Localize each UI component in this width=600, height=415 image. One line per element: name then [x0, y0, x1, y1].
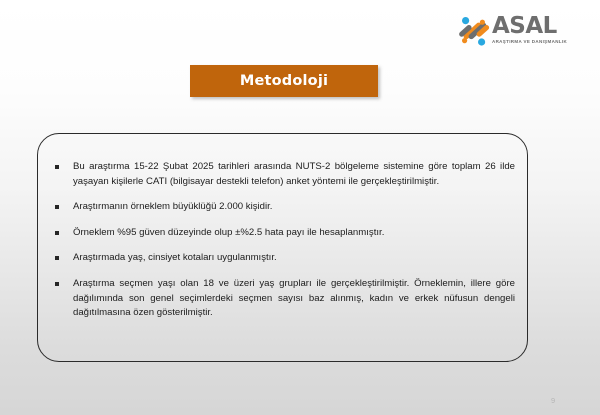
square-bullet-icon: [55, 256, 59, 260]
list-item-text: Araştırma seçmen yaşı olan 18 ve üzeri y…: [73, 277, 515, 321]
slide: ASAL ARAŞTIRMA VE DANIŞMANLIK Metodoloji…: [0, 0, 600, 415]
list-item-text: Örneklem %95 güven düzeyinde olup ±%2.5 …: [73, 226, 515, 241]
list-item: Araştırma seçmen yaşı olan 18 ve üzeri y…: [55, 277, 515, 321]
asal-diagonal-bars-icon: [457, 15, 490, 48]
square-bullet-icon: [55, 231, 59, 235]
square-bullet-icon: [55, 205, 59, 209]
list-item: Örneklem %95 güven düzeyinde olup ±%2.5 …: [55, 226, 515, 241]
square-bullet-icon: [55, 165, 59, 169]
logo-wordmark: ASAL ARAŞTIRMA VE DANIŞMANLIK: [492, 14, 566, 45]
list-item-text: Araştırmada yaş, cinsiyet kotaları uygul…: [73, 251, 515, 266]
asal-logo: ASAL ARAŞTIRMA VE DANIŞMANLIK: [457, 14, 579, 52]
logo-tagline: ARAŞTIRMA VE DANIŞMANLIK: [492, 39, 567, 45]
list-item-text: Bu araştırma 15-22 Şubat 2025 tarihleri …: [73, 160, 515, 189]
list-item: Araştırmada yaş, cinsiyet kotaları uygul…: [55, 251, 515, 266]
list-item: Bu araştırma 15-22 Şubat 2025 tarihleri …: [55, 160, 515, 189]
list-item-text: Araştırmanın örneklem büyüklüğü 2.000 ki…: [73, 200, 515, 215]
methodology-bullet-list: Bu araştırma 15-22 Şubat 2025 tarihleri …: [55, 160, 515, 332]
list-item: Araştırmanın örneklem büyüklüğü 2.000 ki…: [55, 200, 515, 215]
square-bullet-icon: [55, 282, 59, 286]
title-banner: Metodoloji: [190, 65, 378, 97]
page-number: 9: [551, 396, 555, 405]
logo-title: ASAL: [492, 15, 566, 38]
page-title: Metodoloji: [240, 73, 328, 89]
